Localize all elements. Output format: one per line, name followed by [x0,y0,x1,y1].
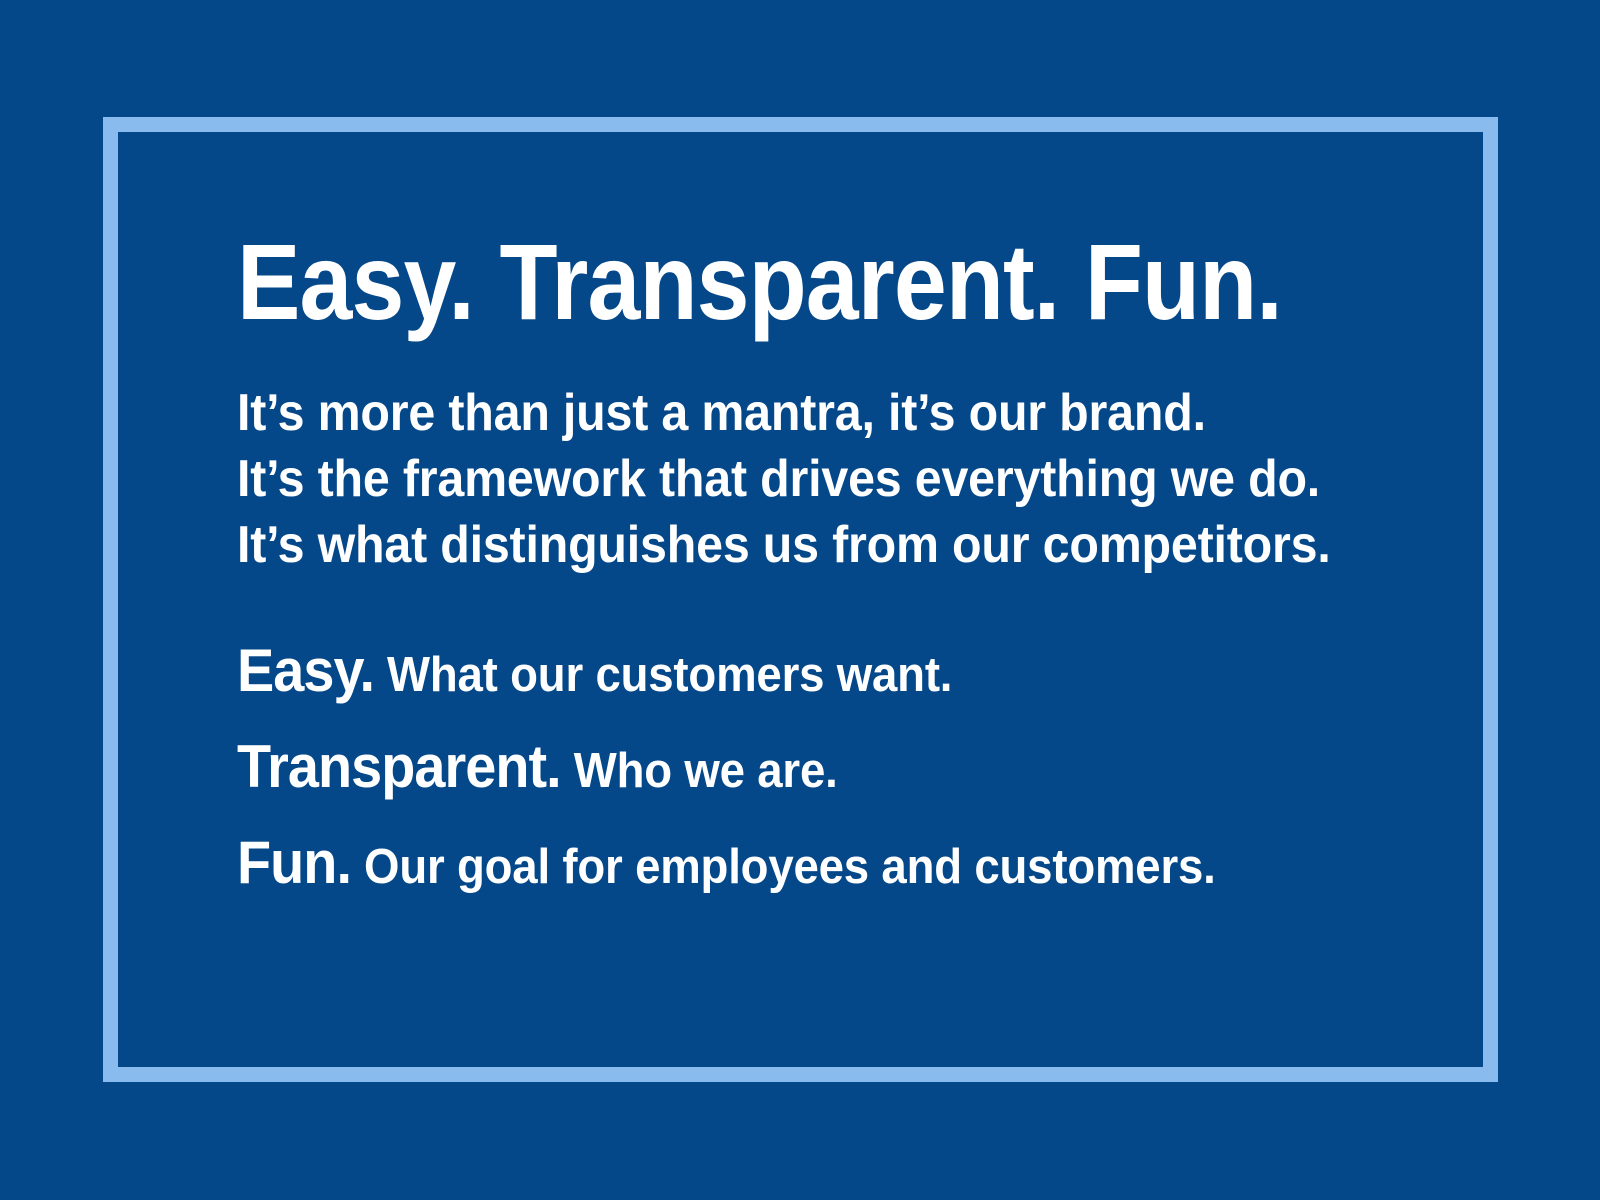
value-description-easy: What our customers want. [387,648,952,702]
values-list: Easy.What our customers want. Transparen… [237,631,1417,919]
value-lead-transparent: Transparent. [237,733,561,800]
page-title: Easy. Transparent. Fun. [237,228,1275,336]
intro-line-3: It’s what distinguishes us from our comp… [237,512,1334,578]
value-item-fun: Fun.Our goal for employees and customers… [237,823,1334,919]
value-description-transparent: Who we are. [574,744,838,798]
brand-mantra-slide: Easy. Transparent. Fun. It’s more than j… [0,0,1600,1200]
value-description-fun: Our goal for employees and customers. [364,840,1216,894]
intro-paragraph: It’s more than just a mantra, it’s our b… [237,380,1417,578]
value-lead-fun: Fun. [237,829,351,896]
slide-content: Easy. Transparent. Fun. It’s more than j… [237,228,1417,919]
value-lead-easy: Easy. [237,637,374,704]
intro-line-2: It’s the framework that drives everythin… [237,446,1334,512]
value-item-transparent: Transparent.Who we are. [237,727,1334,823]
value-item-easy: Easy.What our customers want. [237,631,1334,727]
intro-line-1: It’s more than just a mantra, it’s our b… [237,380,1334,446]
